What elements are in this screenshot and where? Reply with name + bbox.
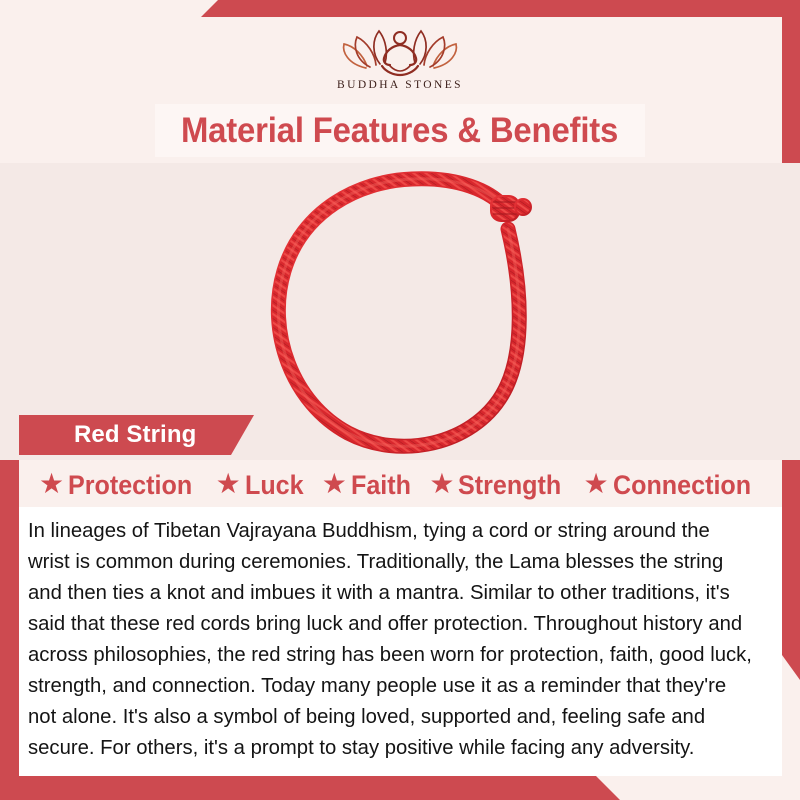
benefit-item-protection: ★ Protection	[39, 470, 202, 501]
benefit-item-faith: ★ Faith	[322, 470, 416, 501]
description-panel: In lineages of Tibetan Vajrayana Buddhis…	[19, 507, 782, 776]
lotus-meditation-icon	[336, 20, 464, 78]
benefit-label: Connection	[613, 470, 751, 501]
benefit-item-luck: ★ Luck	[216, 470, 308, 501]
benefit-label: Faith	[351, 470, 411, 501]
benefits-row: ★ Protection ★ Luck ★ Faith ★ Strength ★…	[19, 466, 781, 504]
title-banner: Material Features & Benefits	[155, 104, 645, 157]
brand-name: BUDDHA STONES	[337, 79, 463, 91]
decor-top-bar	[0, 0, 800, 17]
benefit-label: Strength	[458, 470, 561, 501]
poster-root: BUDDHA STONES Material Features & Benefi…	[0, 0, 800, 800]
benefit-label: Protection	[68, 470, 192, 501]
product-label-banner: Red String	[19, 415, 254, 455]
benefit-item-strength: ★ Strength	[429, 470, 569, 501]
benefit-label: Luck	[245, 470, 304, 501]
star-icon: ★	[39, 470, 64, 498]
star-icon: ★	[216, 470, 241, 498]
product-label: Red String	[74, 421, 196, 449]
decor-bottom-bar	[0, 776, 640, 800]
star-icon: ★	[322, 470, 347, 498]
star-icon: ★	[583, 470, 608, 498]
benefit-item-connection: ★ Connection	[583, 470, 761, 501]
page-title: Material Features & Benefits	[181, 111, 618, 151]
brand-header: BUDDHA STONES	[0, 17, 800, 103]
star-icon: ★	[429, 470, 454, 498]
description-text: In lineages of Tibetan Vajrayana Buddhis…	[28, 515, 757, 763]
